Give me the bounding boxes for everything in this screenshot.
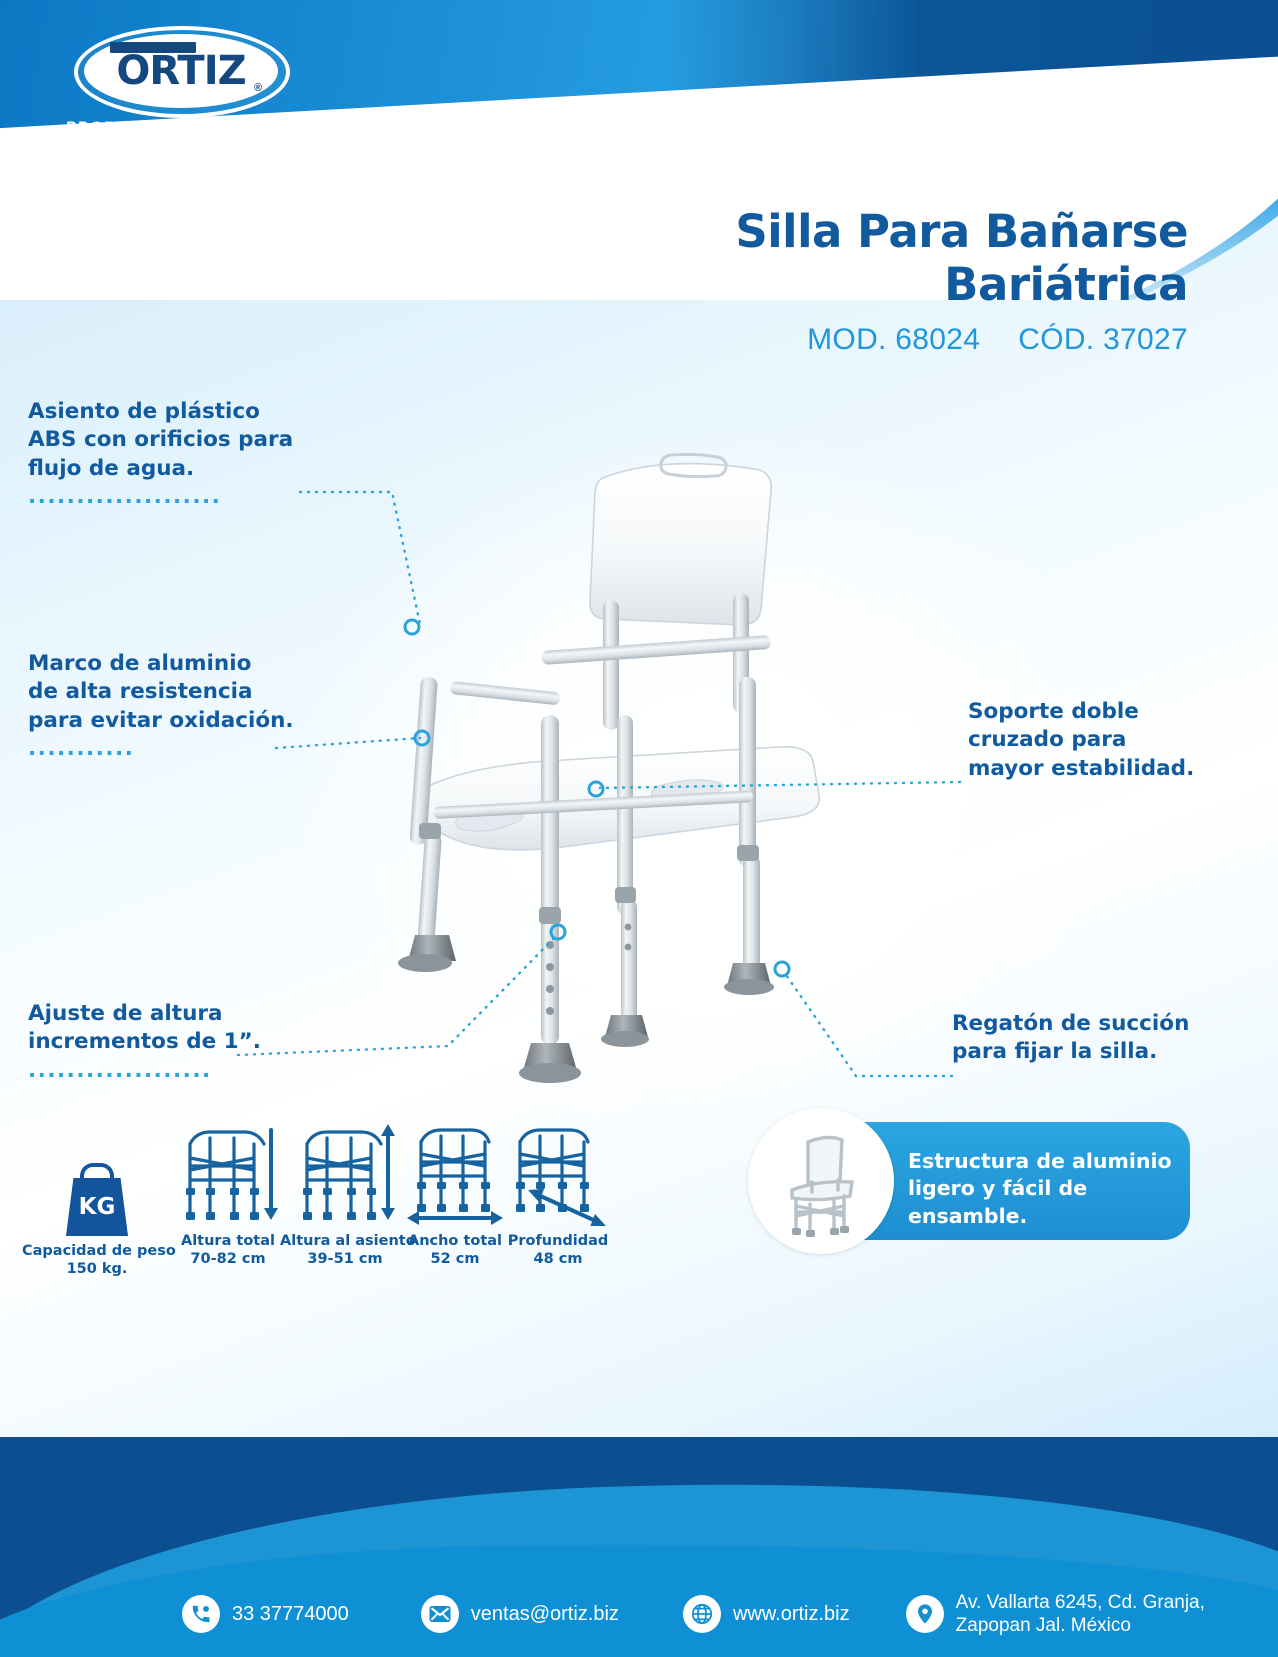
total-width-icon [400,1118,510,1226]
callout-seat-line-3: flujo de agua. .................... [28,455,328,512]
logo-tagline: PRODUCTOS MEDICOS, ORTOPEDICOS Y DE REHA… [22,118,322,183]
contact-email[interactable]: ventas@ortiz.biz [421,1595,619,1633]
callout-frame: Marco de aluminio de alta resistencia pa… [28,650,338,764]
callout-suction-tip: Regatón de succión para fijar la silla. [952,1010,1212,1067]
callout-height-adjust: Ajuste de altura incrementos de 1”. ....… [28,1000,338,1085]
email-address: ventas@ortiz.biz [471,1602,619,1626]
product-title-line-1: Silla Para Bañarse [488,205,1188,258]
pill-thumbnail-circle [748,1108,894,1254]
spec-seat-height: Altura al asiento 39-51 cm [280,1118,410,1267]
envelope-icon [421,1595,459,1633]
weight-capacity-icon: KG [22,1128,172,1236]
seat-height-icon [280,1118,410,1226]
contact-phone[interactable]: 33 37774000 [182,1595,349,1633]
leader-dots-height: ................... [28,1058,212,1083]
ortiz-logo: ORTIZ ® PRODUCTOS MEDICOS, ORTOPEDICOS Y… [22,22,302,152]
callout-seat-line-1: Asiento de plástico [28,398,328,426]
website-url: www.ortiz.biz [733,1602,850,1626]
spec-value: 39-51 cm [280,1251,410,1267]
phone-icon [182,1595,220,1633]
spec-label: Ancho total [400,1232,510,1251]
contact-website[interactable]: www.ortiz.biz [683,1595,850,1633]
spec-total-width: Ancho total 52 cm [400,1118,510,1267]
address-text: Av. Vallarta 6245, Cd. Granja, Zapopan J… [956,1591,1205,1637]
depth-icon [498,1118,618,1226]
spec-depth: Profundidad 48 cm [498,1118,618,1267]
kg-handle-shape [80,1163,114,1180]
product-codes: MOD. 68024CÓD. 37027 [488,323,1188,357]
product-image-shower-chair [355,415,915,1115]
spec-value: 48 cm [498,1251,618,1267]
callout-seat-line-2: ABS con orificios para [28,426,328,454]
model-number: MOD. 68024 [807,323,980,356]
callout-support-line-1: Soporte doble [968,698,1218,726]
callout-height-line-2: incrementos de 1”. ................... [28,1028,338,1085]
callout-support-line-2: cruzado para [968,726,1218,754]
callout-seat: Asiento de plástico ABS con orificios pa… [28,398,328,512]
specifications-row: KG Capacidad de peso 150 kg. [22,1118,622,1298]
footer-contact-row: 33 37774000 ventas@ortiz.biz [0,1579,1278,1649]
callout-frame-line-1: Marco de aluminio [28,650,338,678]
tagline-line-1: PRODUCTOS MEDICOS, [22,118,322,140]
spec-value: 70-82 cm [168,1251,288,1267]
assembly-info-text: Estructura de aluminio ligero y fácil de… [908,1148,1176,1230]
callout-frame-line-2: de alta resistencia [28,678,338,706]
page-footer: 33 37774000 ventas@ortiz.biz [0,1437,1278,1657]
assembly-info-pill: Estructura de aluminio ligero y fácil de… [766,1122,1190,1240]
leader-dots-seat: .................... [28,484,221,509]
product-code: CÓD. 37027 [1018,323,1188,356]
spec-value: 52 cm [400,1251,510,1267]
callout-suction-line-2: para fijar la silla. [952,1038,1212,1066]
spec-total-height: Altura total 70-82 cm [168,1118,288,1267]
contact-address: Av. Vallarta 6245, Cd. Granja, Zapopan J… [906,1591,1205,1637]
product-title-block: Silla Para Bañarse Bariátrica MOD. 68024… [488,205,1188,357]
spec-label: Capacidad de peso [22,1242,172,1261]
callout-double-support: Soporte doble cruzado para mayor estabil… [968,698,1218,783]
callout-support-line-3: mayor estabilidad. [968,755,1218,783]
callout-suction-line-1: Regatón de succión [952,1010,1212,1038]
callout-height-line-1: Ajuste de altura [28,1000,338,1028]
logo-wordmark: ORTIZ [116,51,245,91]
address-line-2: Zapopan Jal. México [956,1614,1205,1637]
spec-label: Altura al asiento [280,1232,410,1251]
registered-mark: ® [254,82,262,94]
spec-weight-capacity: KG Capacidad de peso 150 kg. [22,1128,172,1277]
spec-value: 150 kg. [22,1261,172,1277]
pill-line-1: Estructura de aluminio [908,1148,1176,1175]
location-pin-icon [906,1595,944,1633]
tagline-line-2: ORTOPEDICOS Y DE REHABILITACION [22,140,322,184]
total-height-icon [168,1118,288,1226]
pill-line-2: ligero y fácil de ensamble. [908,1175,1176,1230]
logo-crossbar [110,42,196,53]
spec-label: Profundidad [498,1232,618,1251]
product-title-line-2: Bariátrica [488,258,1188,311]
address-line-1: Av. Vallarta 6245, Cd. Granja, [956,1591,1205,1614]
globe-icon [683,1595,721,1633]
callout-frame-line-3: para evitar oxidación. ........... [28,707,338,764]
leader-dots-frame: ........... [28,736,134,761]
product-datasheet-page: ORTIZ ® PRODUCTOS MEDICOS, ORTOPEDICOS Y… [0,0,1278,1657]
kg-badge: KG [66,1178,128,1236]
spec-label: Altura total [168,1232,288,1251]
phone-number: 33 37774000 [232,1602,349,1626]
